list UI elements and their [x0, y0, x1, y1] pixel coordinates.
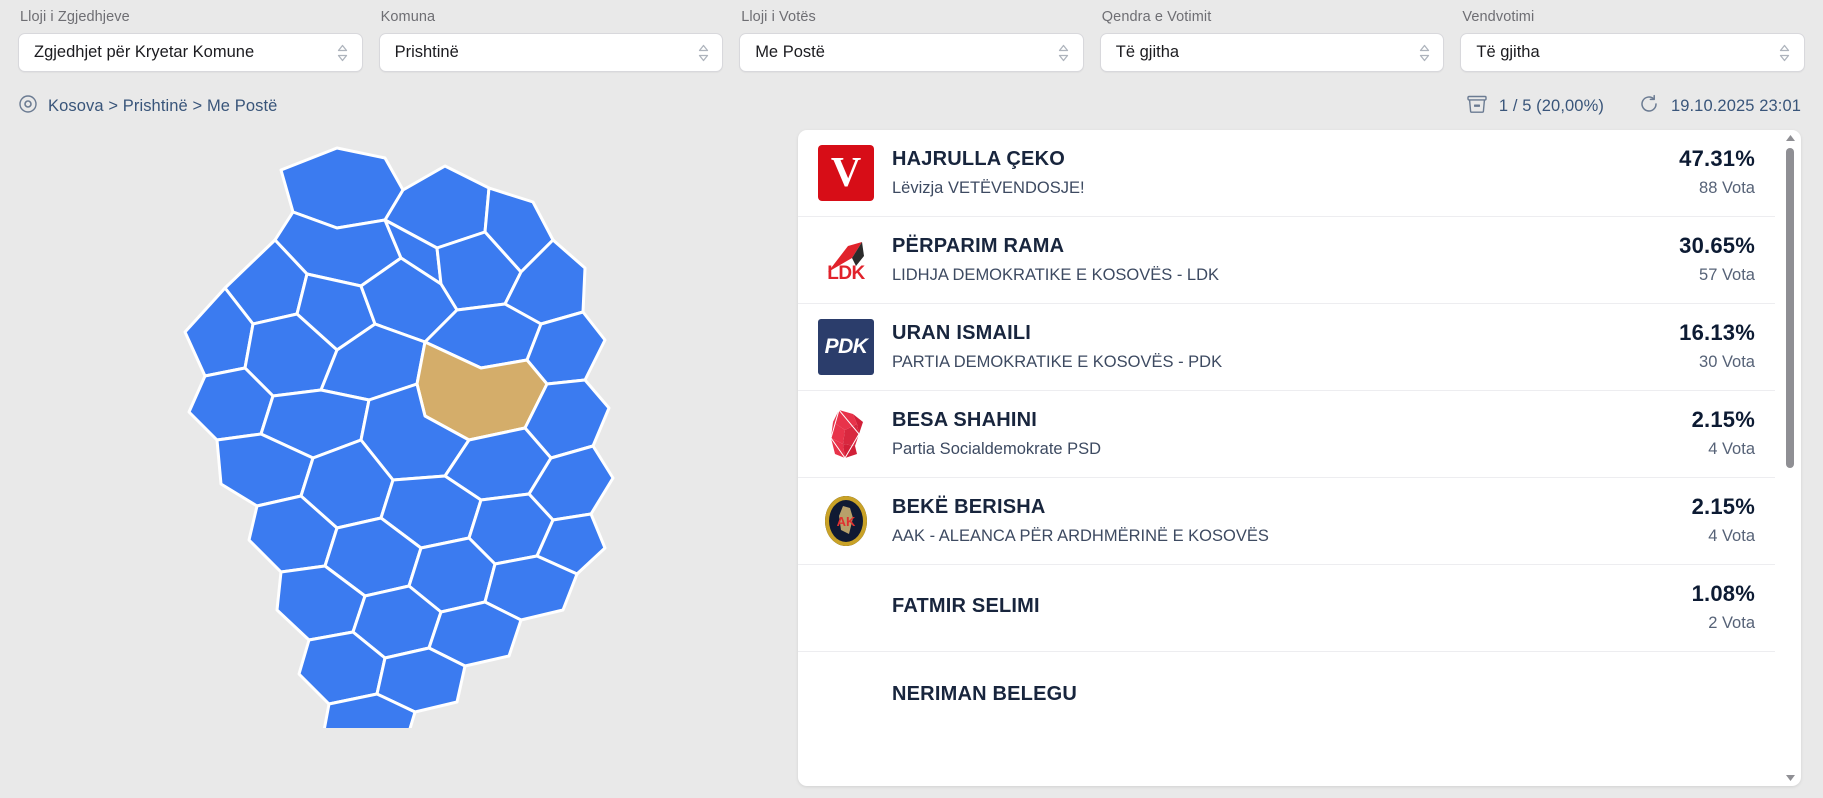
party-logo-psd [818, 406, 874, 462]
boxes-counted-status: 1 / 5 (20,00%) [1466, 94, 1604, 119]
chevron-updown-icon [1779, 43, 1791, 63]
result-percent: 2.15% [1692, 407, 1755, 433]
last-updated-text: 19.10.2025 23:01 [1671, 97, 1801, 116]
breadcrumb-text: Kosova > Prishtinë > Me Postë [48, 97, 277, 116]
scrollbar-thumb[interactable] [1786, 148, 1794, 468]
select-value-vote-type: Me Postë [755, 43, 825, 62]
results-scrollbar[interactable] [1783, 130, 1797, 786]
filter-bar: Lloji i Zgjedhjeve Zgjedhjet për Kryetar… [0, 0, 1823, 84]
results-list[interactable]: V HAJRULLA ÇEKO Lëvizja VETËVENDOSJE! 47… [798, 130, 1801, 786]
chevron-updown-icon [1418, 43, 1430, 63]
candidate-name: URAN ISMAILI [892, 320, 1665, 346]
scroll-up-arrow-icon[interactable] [1783, 130, 1797, 146]
filter-label-municipality: Komuna [379, 8, 724, 33]
scroll-down-arrow-icon[interactable] [1783, 770, 1797, 786]
kosovo-map[interactable] [0, 128, 790, 788]
chevron-updown-icon [337, 43, 349, 63]
result-row[interactable]: AK BEKË BERISHA AAK - ALEANCA PËR ARDHMË… [798, 478, 1775, 565]
results-card: V HAJRULLA ÇEKO Lëvizja VETËVENDOSJE! 47… [798, 130, 1801, 786]
psd-mark-icon [823, 408, 869, 460]
refresh-icon [1638, 94, 1660, 119]
breadcrumb[interactable]: Kosova > Prishtinë > Me Postë [18, 94, 277, 119]
kosovo-map-svg[interactable] [85, 128, 705, 728]
result-percent: 2.15% [1692, 494, 1755, 520]
party-name: PARTIA DEMOKRATIKE E KOSOVËS - PDK [892, 350, 1665, 374]
breadcrumb-bar: Kosova > Prishtinë > Me Postë 1 / 5 (20,… [0, 84, 1823, 128]
aak-mark-icon: AK [823, 494, 869, 548]
content-area: V HAJRULLA ÇEKO Lëvizja VETËVENDOSJE! 47… [0, 128, 1823, 796]
filter-label-election-type: Lloji i Zgjedhjeve [18, 8, 363, 33]
select-municipality[interactable]: Prishtinë [379, 33, 724, 72]
result-votes: 2 Vota [1692, 611, 1755, 635]
location-pin-icon [18, 94, 38, 119]
scrollbar-track[interactable] [1783, 146, 1797, 770]
result-percent: 16.13% [1679, 320, 1755, 346]
boxes-counted-text: 1 / 5 (20,00%) [1499, 97, 1604, 116]
select-vote-type[interactable]: Me Postë [739, 33, 1084, 72]
filter-municipality: Komuna Prishtinë [379, 8, 724, 84]
party-name: AAK - ALEANCA PËR ARDHMËRINË E KOSOVËS [892, 524, 1678, 548]
party-logo-aak: AK [818, 493, 874, 549]
chevron-updown-icon [697, 43, 709, 63]
result-votes: 4 Vota [1692, 437, 1755, 461]
svg-text:AK: AK [837, 514, 856, 529]
select-value-election-type: Zgjedhjet për Kryetar Komune [34, 43, 254, 62]
candidate-name: HAJRULLA ÇEKO [892, 146, 1665, 172]
candidate-name: PËRPARIM RAMA [892, 233, 1665, 259]
filter-label-polling-center: Qendra e Votimit [1100, 8, 1445, 33]
filter-vote-type: Lloji i Votës Me Postë [739, 8, 1084, 84]
ldk-mark-icon [818, 232, 874, 288]
filter-polling-station: Vendvotimi Të gjitha [1460, 8, 1805, 84]
candidate-name: BESA SHAHINI [892, 407, 1678, 433]
filter-label-polling-station: Vendvotimi [1460, 8, 1805, 33]
select-polling-station[interactable]: Të gjitha [1460, 33, 1805, 72]
chevron-updown-icon [1058, 43, 1070, 63]
filter-label-vote-type: Lloji i Votës [739, 8, 1084, 33]
result-row[interactable]: BESA SHAHINI Partia Socialdemokrate PSD … [798, 391, 1775, 478]
candidate-name: NERIMAN BELEGU [892, 681, 1741, 707]
candidate-name: FATMIR SELIMI [892, 593, 1678, 619]
result-votes: 4 Vota [1692, 524, 1755, 548]
party-logo-pdk: PDK [818, 319, 874, 375]
result-votes: 88 Vota [1679, 176, 1755, 200]
select-polling-center[interactable]: Të gjitha [1100, 33, 1445, 72]
results-pane: V HAJRULLA ÇEKO Lëvizja VETËVENDOSJE! 47… [790, 128, 1801, 796]
ballot-box-icon [1466, 94, 1488, 119]
select-value-polling-station: Të gjitha [1476, 43, 1539, 62]
candidate-name: BEKË BERISHA [892, 494, 1678, 520]
status-group: 1 / 5 (20,00%) 19.10.2025 23:01 [1466, 94, 1801, 119]
last-updated-status[interactable]: 19.10.2025 23:01 [1638, 94, 1801, 119]
result-row[interactable]: LDK PËRPARIM RAMA LIDHJA DEMOKRATIKE E K… [798, 217, 1775, 304]
result-percent: 47.31% [1679, 146, 1755, 172]
filter-polling-center: Qendra e Votimit Të gjitha [1100, 8, 1445, 84]
select-value-polling-center: Të gjitha [1116, 43, 1179, 62]
party-logo-ldk: LDK [818, 232, 874, 288]
filter-election-type: Lloji i Zgjedhjeve Zgjedhjet për Kryetar… [18, 8, 363, 84]
result-row[interactable]: NERIMAN BELEGU [798, 652, 1775, 739]
party-name: LIDHJA DEMOKRATIKE E KOSOVËS - LDK [892, 263, 1665, 287]
result-percent: 30.65% [1679, 233, 1755, 259]
result-row[interactable]: PDK URAN ISMAILI PARTIA DEMOKRATIKE E KO… [798, 304, 1775, 391]
party-name: Partia Socialdemokrate PSD [892, 437, 1678, 461]
party-name: Lëvizja VETËVENDOSJE! [892, 176, 1665, 200]
result-percent: 1.08% [1692, 581, 1755, 607]
result-row[interactable]: V HAJRULLA ÇEKO Lëvizja VETËVENDOSJE! 47… [798, 130, 1775, 217]
election-results-page: Lloji i Zgjedhjeve Zgjedhjet për Kryetar… [0, 0, 1823, 798]
select-election-type[interactable]: Zgjedhjet për Kryetar Komune [18, 33, 363, 72]
result-votes: 30 Vota [1679, 350, 1755, 374]
result-votes: 57 Vota [1679, 263, 1755, 287]
party-logo-vv: V [818, 145, 874, 201]
result-row[interactable]: FATMIR SELIMI 1.08% 2 Vota [798, 565, 1775, 652]
select-value-municipality: Prishtinë [395, 43, 459, 62]
